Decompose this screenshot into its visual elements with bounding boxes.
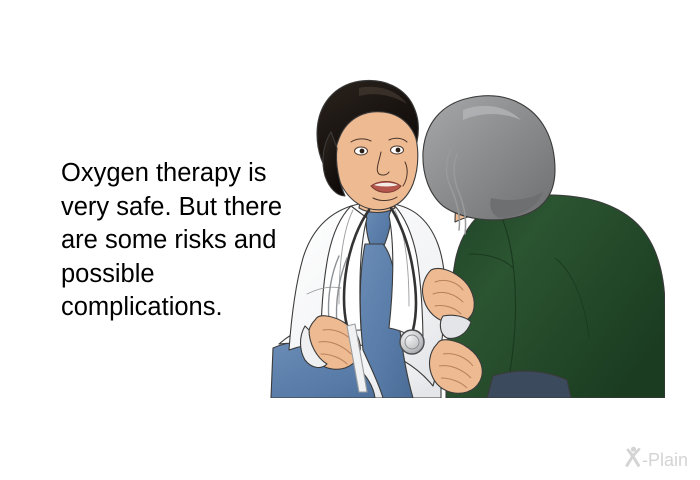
x-plain-logo: -Plain xyxy=(620,443,696,475)
illustration-page: Oxygen therapy is very safe. But there a… xyxy=(0,0,700,480)
doctor-patient-illustration xyxy=(255,58,665,398)
pupil-right xyxy=(396,148,401,153)
stethoscope-bell xyxy=(400,330,424,354)
running-person-x-icon xyxy=(625,447,641,468)
logo-wordmark: -Plain xyxy=(642,450,688,470)
pupil-left xyxy=(360,149,365,154)
